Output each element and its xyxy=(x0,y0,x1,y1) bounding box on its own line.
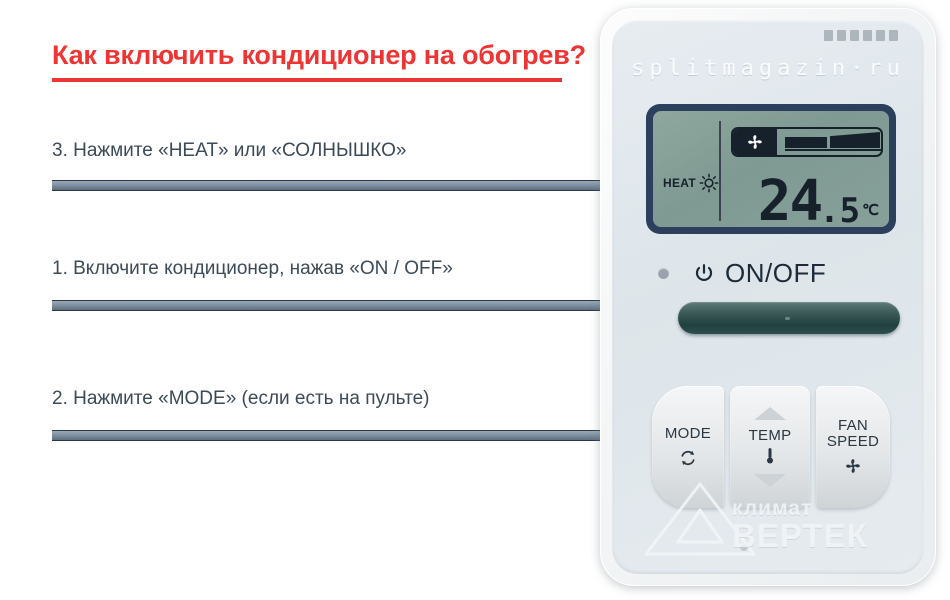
lcd-divider xyxy=(719,121,721,221)
page-root: Как включить кондиционер на обогрев? 3. … xyxy=(0,0,950,600)
temp-button[interactable]: TEMP xyxy=(730,386,810,508)
bottom-screw-dot xyxy=(740,543,748,551)
lcd-heat-indicator: HEAT xyxy=(663,173,719,193)
step-3-label: 3. Нажмите «HEAT» или «СОЛНЫШКО» xyxy=(52,140,406,162)
step-1-arrow-shaft xyxy=(52,300,656,311)
step-1-label: 1. Включите кондиционер, нажав «ON / OFF… xyxy=(52,258,453,280)
fan-speed-label-line1: FAN xyxy=(838,418,868,434)
step-2-arrow-shaft xyxy=(52,430,636,441)
remote-control: splitmagazin·ru HEAT xyxy=(600,8,936,586)
step-1-arrow xyxy=(52,288,692,322)
indicator-led xyxy=(658,268,669,279)
lcd-display: HEAT xyxy=(646,104,896,234)
ir-vent-slots xyxy=(824,30,898,41)
sun-icon xyxy=(699,173,719,193)
temp-integer: 24 xyxy=(758,179,821,225)
lcd-temperature: 24 .5 ℃ xyxy=(758,179,879,225)
onoff-header: ON/OFF xyxy=(692,258,826,289)
temp-unit: ℃ xyxy=(862,201,879,219)
watermark-top: splitmagazin·ru xyxy=(612,56,924,81)
remote-face: splitmagazin·ru HEAT xyxy=(612,20,924,574)
lcd-screen: HEAT xyxy=(653,111,889,227)
triangle-up-icon[interactable] xyxy=(754,407,786,420)
watermark-line-2: ВЕРТЕК xyxy=(732,519,868,552)
step-3-arrow-shaft xyxy=(52,180,634,191)
cycle-arrows-icon xyxy=(678,448,698,468)
title-underline xyxy=(52,78,562,82)
fan-speed-label-line2: SPEED xyxy=(827,434,879,450)
step-3-arrow xyxy=(52,168,660,202)
fan-icon xyxy=(733,129,777,155)
lcd-mode-label: HEAT xyxy=(663,176,696,190)
page-title: Как включить кондиционер на обогрев? xyxy=(52,40,586,71)
power-icon xyxy=(692,262,716,286)
mode-button[interactable]: MODE xyxy=(652,386,724,508)
temp-fraction: .5 xyxy=(819,198,860,225)
lcd-fan-speed-bar xyxy=(731,127,883,157)
thermometer-icon xyxy=(760,446,780,466)
button-cluster: MODE TEMP xyxy=(652,386,890,508)
fan-speed-button[interactable]: FAN SPEED xyxy=(816,386,890,508)
onoff-button[interactable] xyxy=(678,302,900,334)
fan-speed-levels xyxy=(777,129,881,155)
temp-button-label: TEMP xyxy=(749,428,792,444)
onoff-label: ON/OFF xyxy=(725,258,826,289)
mode-button-label: MODE xyxy=(665,426,711,442)
triangle-down-icon[interactable] xyxy=(754,474,786,487)
step-2-arrow xyxy=(52,418,672,452)
fan-icon xyxy=(843,456,863,476)
step-2-label: 2. Нажмите «MODE» (если есть на пульте) xyxy=(52,388,429,410)
